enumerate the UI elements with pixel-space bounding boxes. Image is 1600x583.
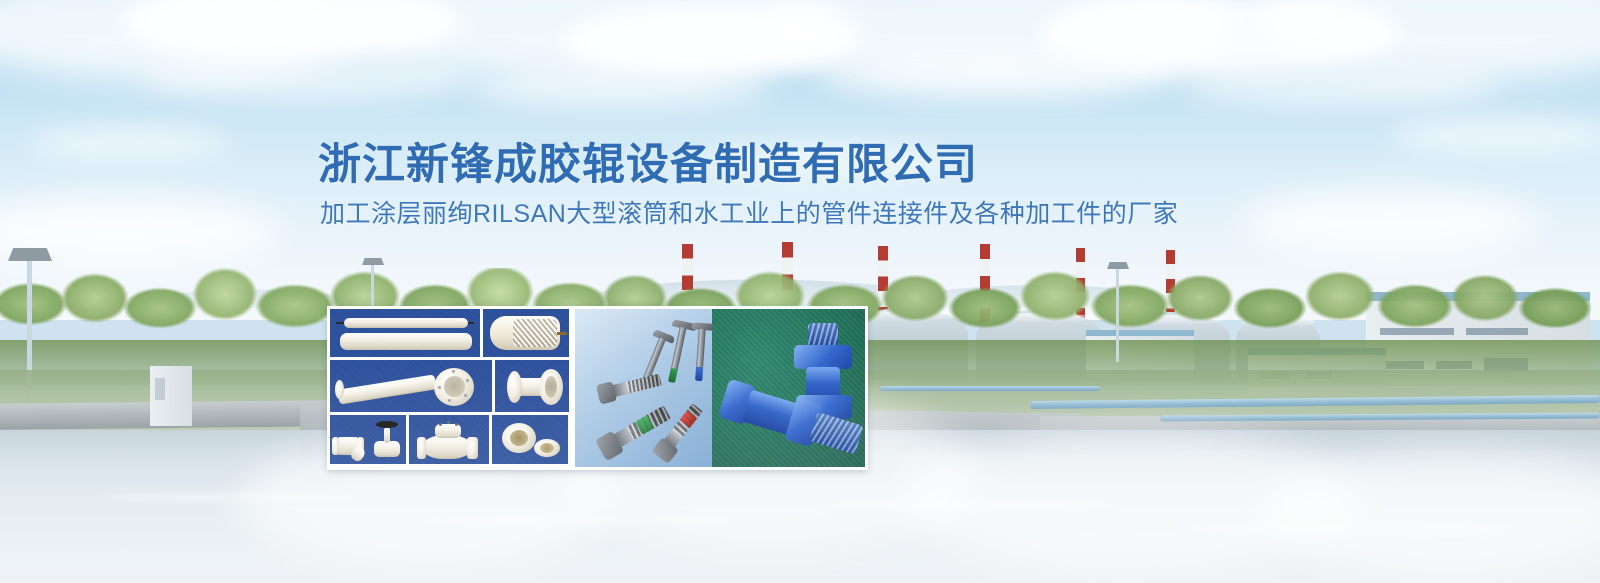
flange-bolt-hole bbox=[448, 399, 451, 402]
carriage-bolt bbox=[685, 322, 712, 386]
check-valve-body bbox=[423, 435, 471, 459]
blue-tip bbox=[695, 367, 703, 381]
collage-panel-blue-bolts[interactable] bbox=[712, 306, 868, 470]
pipe-railing bbox=[880, 386, 1100, 391]
product-cell-flange-spool[interactable] bbox=[495, 360, 569, 412]
spool-flange bbox=[507, 371, 522, 403]
valve-bonnet bbox=[435, 424, 461, 438]
handwheel bbox=[376, 421, 398, 428]
valve-stem bbox=[384, 427, 390, 443]
collage-row bbox=[330, 309, 569, 357]
flange-bore bbox=[444, 376, 465, 397]
bolt-thread bbox=[809, 412, 864, 455]
seat-bore bbox=[540, 443, 554, 453]
page-subtitle: 加工涂层丽绚RILSAN大型滚筒和水工业上的管件连接件及各种加工件的厂家 bbox=[320, 194, 1178, 230]
light-pole bbox=[1116, 266, 1119, 362]
cloud bbox=[470, 70, 770, 108]
cloud bbox=[1180, 66, 1500, 106]
product-cell-valve-discs[interactable] bbox=[492, 415, 568, 464]
product-cell-rollers[interactable] bbox=[330, 309, 480, 357]
bolt-thread bbox=[808, 323, 838, 347]
collage-panel-fittings[interactable] bbox=[327, 306, 572, 470]
product-cell-perforated-core[interactable] bbox=[483, 309, 569, 357]
flange-bolt-hole bbox=[438, 386, 441, 389]
product-cell-check-valve[interactable] bbox=[409, 415, 489, 464]
hex-nut bbox=[794, 345, 852, 369]
bonnet-bolt bbox=[447, 421, 450, 424]
gate-valve-body bbox=[374, 441, 400, 457]
water-ripple bbox=[100, 492, 360, 502]
cloud bbox=[30, 128, 230, 158]
page-title: 浙江新锋成胶辊设备制造有限公司 bbox=[318, 130, 978, 192]
coated-roller bbox=[344, 318, 468, 328]
product-cell-strainer-gate-valve[interactable] bbox=[330, 415, 406, 464]
bonnet-bolt bbox=[455, 423, 458, 426]
flange-bolt-hole bbox=[452, 370, 455, 373]
hut-shadow bbox=[155, 378, 165, 400]
coated-roller bbox=[340, 333, 472, 350]
water-ripple bbox=[820, 500, 1120, 510]
bolt-thread bbox=[626, 374, 662, 394]
strainer-flange bbox=[332, 437, 339, 455]
collage-panel-steel-bolts[interactable] bbox=[572, 306, 712, 470]
core-shaft bbox=[557, 332, 567, 335]
green-tip bbox=[668, 368, 678, 383]
cloud bbox=[1240, 190, 1540, 256]
product-cell-flanged-pipe[interactable] bbox=[330, 360, 492, 412]
pipe-flange-small bbox=[335, 380, 344, 399]
light-pole-head bbox=[8, 248, 52, 261]
bonnet-bolt bbox=[439, 423, 442, 426]
hero-banner: 浙江新锋成胶辊设备制造有限公司 加工涂层丽绚RILSAN大型滚筒和水工业上的管件… bbox=[0, 0, 1600, 583]
water-ripple bbox=[420, 516, 740, 525]
spool-bore bbox=[545, 376, 557, 398]
valve-flange bbox=[467, 437, 478, 459]
valve-flange bbox=[417, 437, 426, 459]
flange-bolt-hole bbox=[466, 379, 469, 382]
coated-pipe bbox=[337, 374, 436, 404]
perforation-texture bbox=[513, 319, 557, 347]
cloud bbox=[140, 56, 470, 100]
disc-seat bbox=[510, 430, 528, 446]
collage-row bbox=[330, 415, 569, 464]
water-ripple bbox=[1180, 524, 1520, 533]
control-hut bbox=[150, 366, 192, 426]
collage-row bbox=[330, 360, 569, 412]
product-collage[interactable] bbox=[327, 306, 868, 470]
flange-bolt-hole bbox=[464, 394, 467, 397]
cloud bbox=[820, 52, 1180, 98]
light-pole-head bbox=[362, 258, 384, 265]
light-pole-head bbox=[1107, 262, 1129, 269]
